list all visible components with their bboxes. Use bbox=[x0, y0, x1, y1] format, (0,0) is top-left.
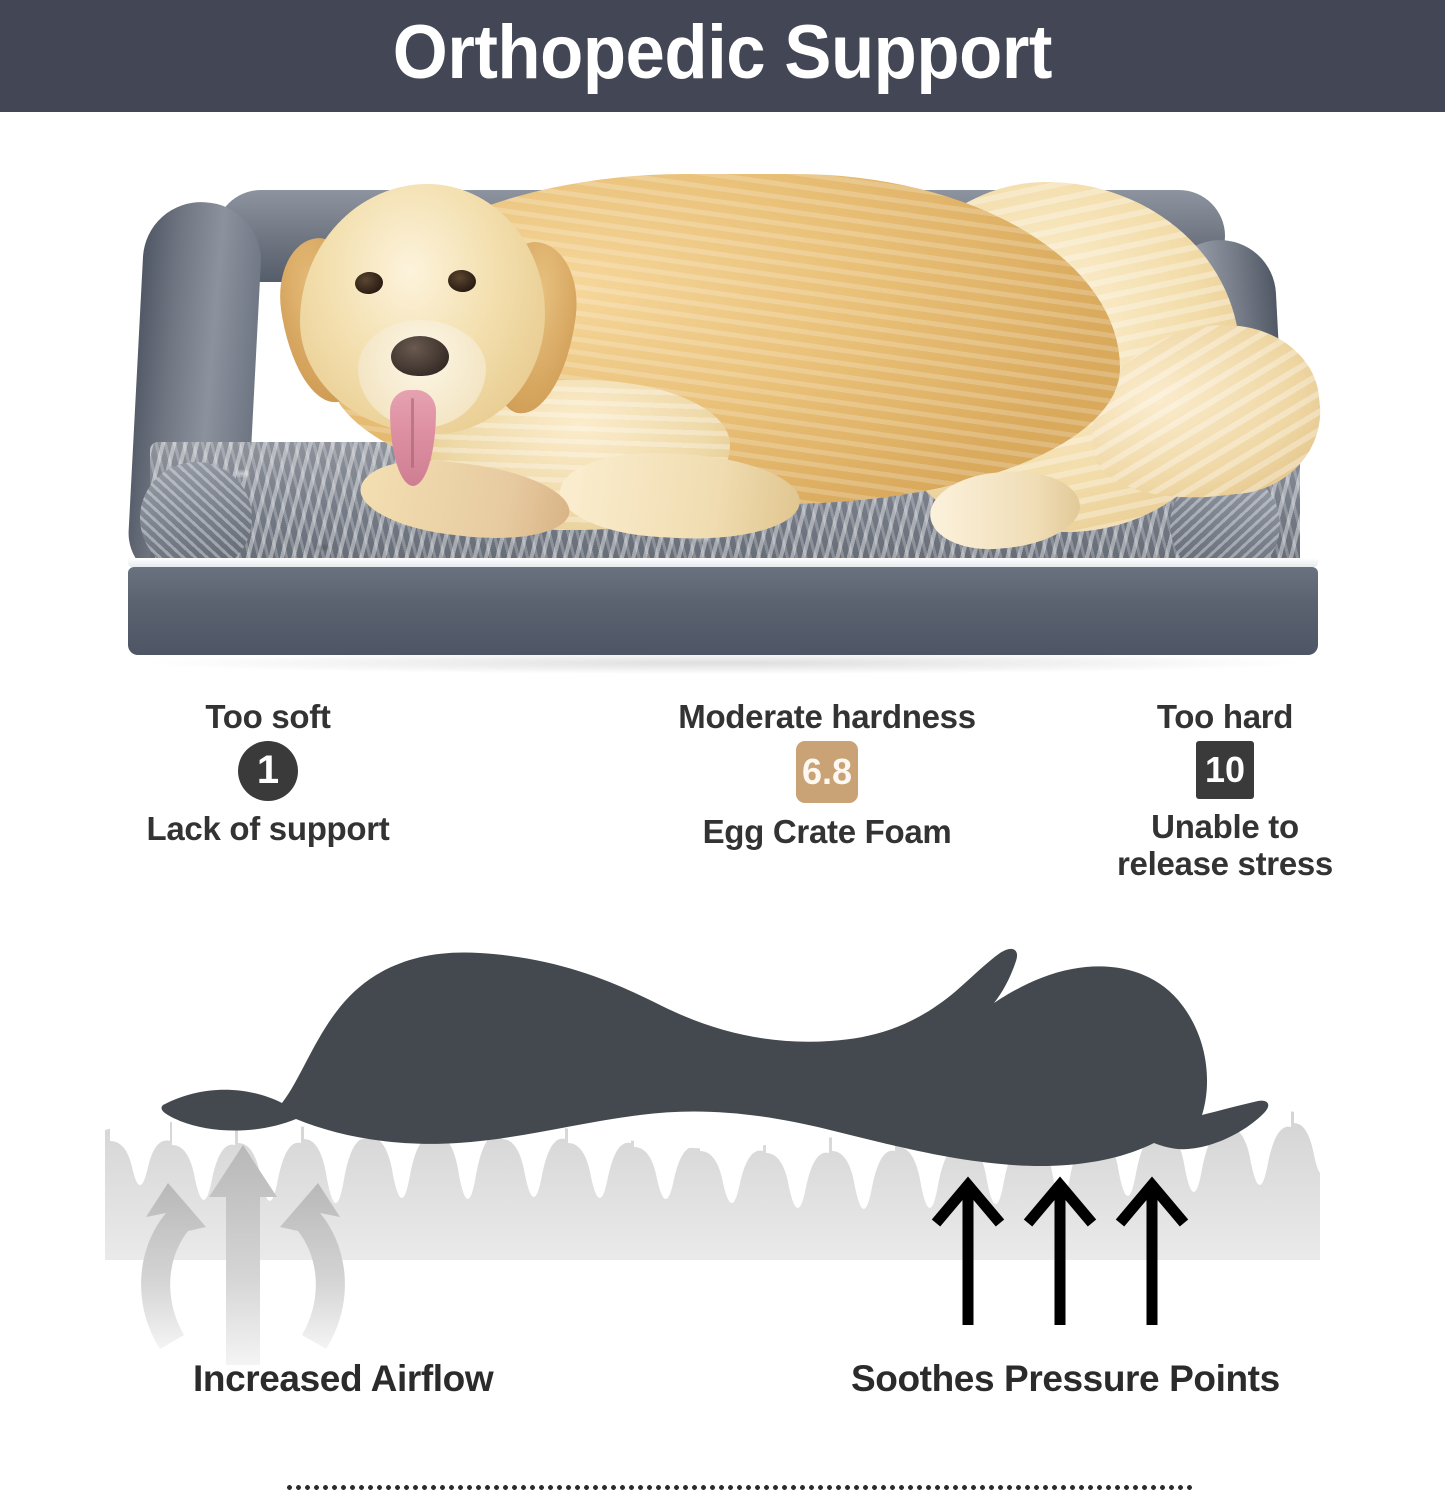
foam-diagram: Increased Airflow Soothes Pressure Point… bbox=[0, 905, 1445, 1445]
header-banner: Orthopedic Support bbox=[0, 0, 1445, 112]
pressure-points-label: Soothes Pressure Points bbox=[851, 1358, 1280, 1400]
foam-diagram-svg bbox=[0, 905, 1445, 1365]
scale-marker-68: 6.8 bbox=[796, 741, 858, 803]
dog-nose bbox=[391, 336, 449, 376]
scale-marker-10: 10 bbox=[1196, 741, 1254, 799]
airflow-label: Increased Airflow bbox=[193, 1358, 493, 1400]
scale-marker-row-68: 6.8 bbox=[572, 741, 1082, 803]
scale-point-too-hard: Too hard 10 Unable to release stress bbox=[1080, 700, 1370, 883]
bed-drop-shadow bbox=[150, 652, 1300, 674]
hardness-scale: Too soft 1 Lack of support Moderate hard… bbox=[0, 700, 1445, 910]
scale-point-moderate: Moderate hardness 6.8 Egg Crate Foam bbox=[572, 700, 1082, 851]
scale-point-too-soft: Too soft 1 Lack of support bbox=[108, 700, 428, 848]
scale-bottom-label-lack-of-support: Lack of support bbox=[108, 811, 428, 848]
scale-top-label-moderate-hardness: Moderate hardness bbox=[572, 700, 1082, 735]
bed-base bbox=[128, 567, 1318, 655]
scale-bottom-label-line-2: release stress bbox=[1080, 846, 1370, 883]
scale-marker-row-1: 1 bbox=[108, 741, 428, 801]
scale-bottom-label-unable-to-release-stress: Unable to release stress bbox=[1080, 809, 1370, 883]
scale-top-label-too-hard: Too hard bbox=[1080, 700, 1370, 735]
scale-bottom-label-egg-crate-foam: Egg Crate Foam bbox=[572, 814, 1082, 851]
product-photo-stage bbox=[0, 112, 1445, 692]
pressure-arrows bbox=[936, 1185, 1184, 1325]
scale-bottom-label-line-1: Unable to bbox=[1080, 809, 1370, 846]
scale-dotted-line bbox=[285, 1485, 1195, 1490]
product-photo bbox=[0, 112, 1445, 692]
scale-marker-row-10: 10 bbox=[1080, 741, 1370, 799]
scale-marker-1: 1 bbox=[238, 741, 298, 801]
scale-top-label-too-soft: Too soft bbox=[108, 700, 428, 735]
page-title: Orthopedic Support bbox=[393, 15, 1052, 97]
